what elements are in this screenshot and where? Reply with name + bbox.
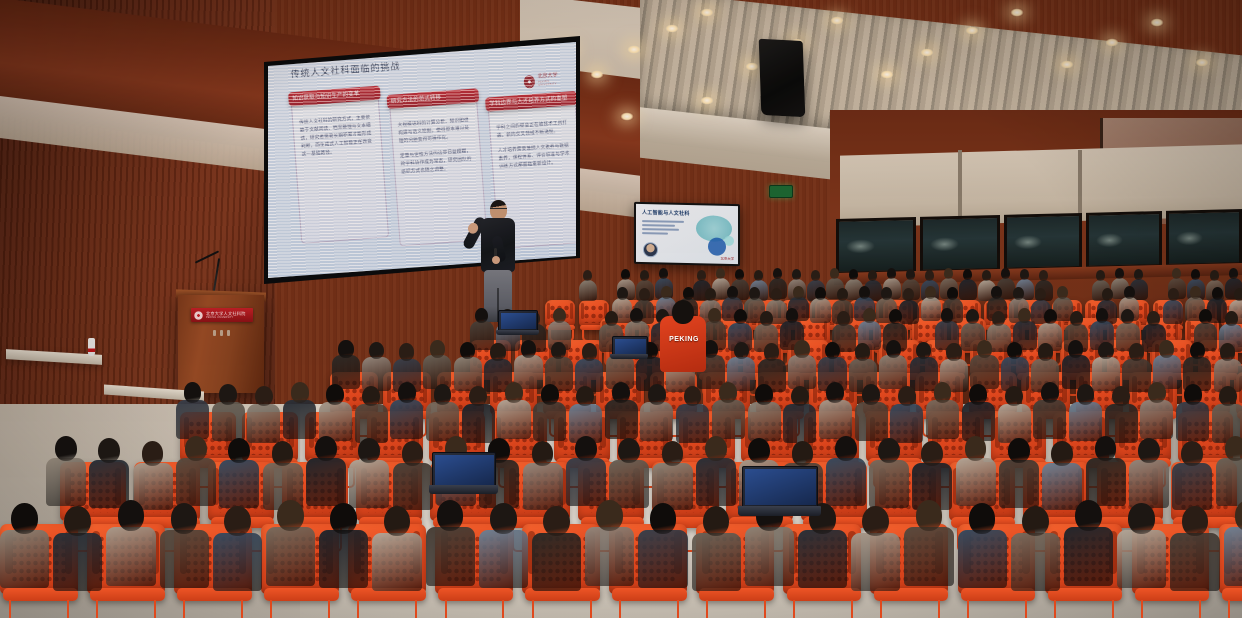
audience-head — [1121, 309, 1134, 324]
audience-head — [1190, 286, 1201, 299]
audience-torso — [426, 527, 475, 586]
slide-column-body: 大规模语料的计算分析、知识图谱构建与语义挖掘，使得原本难以处理的问题变得可操作化… — [390, 99, 482, 189]
audience-head — [362, 386, 380, 407]
audience-torso — [692, 533, 741, 592]
audience-torso — [869, 460, 909, 508]
audience-torso — [638, 530, 687, 589]
audience-head — [1005, 386, 1023, 407]
audience-member — [106, 500, 157, 592]
downlight — [1150, 18, 1164, 27]
audience-torso — [160, 530, 209, 589]
audience-head — [889, 309, 902, 324]
audience-head — [1095, 436, 1117, 461]
audience-head — [291, 382, 309, 403]
audience-head — [941, 308, 954, 323]
audience-member — [213, 506, 264, 598]
audience-member — [426, 500, 477, 592]
downlight — [965, 26, 979, 35]
audience-torso — [904, 527, 953, 586]
laptop-screen — [432, 452, 496, 487]
audience-torso — [1176, 402, 1209, 441]
audience-head — [811, 270, 821, 281]
audience-head — [1124, 286, 1135, 299]
audience-head — [358, 438, 380, 463]
audience-head — [716, 268, 726, 279]
audience-member — [533, 384, 567, 446]
audience-member — [283, 382, 317, 444]
audience-torso — [826, 458, 866, 506]
audience-head — [1199, 309, 1212, 324]
audience-head — [469, 386, 487, 407]
audience-head — [764, 343, 779, 361]
audience-head — [934, 382, 952, 403]
audience-torso — [810, 298, 830, 322]
audience-torso — [1086, 458, 1126, 506]
audience-head — [437, 500, 464, 531]
audience-head — [830, 268, 840, 279]
audience-head — [1041, 382, 1059, 403]
audience-member — [390, 382, 424, 444]
audience-member — [219, 438, 260, 513]
audience-torso — [585, 527, 634, 586]
audience-head — [1210, 270, 1220, 281]
audience-head — [650, 503, 677, 534]
downlight — [700, 96, 714, 105]
audience-head — [1102, 288, 1113, 301]
water-bottle — [88, 338, 95, 356]
peking-jacket-attendee: PEKING — [660, 300, 706, 372]
audience-torso — [1033, 400, 1066, 439]
audience-head — [792, 441, 814, 466]
audience-member — [1064, 500, 1115, 592]
audience-head — [1168, 288, 1179, 301]
audience-head — [1057, 286, 1068, 299]
audience-head — [969, 503, 996, 534]
audience-head — [532, 441, 554, 466]
audience-head — [1096, 270, 1106, 281]
university-seal-icon — [194, 311, 203, 320]
audience-head — [825, 342, 840, 360]
audience-head — [944, 268, 954, 279]
audience-head — [402, 441, 424, 466]
audience-torso — [640, 402, 673, 441]
audience-head — [735, 269, 745, 280]
audience-torso — [1011, 533, 1060, 592]
audience-member — [497, 382, 531, 444]
audience-head — [906, 269, 916, 280]
audience-head — [719, 382, 737, 403]
audience-head — [786, 308, 799, 323]
audience-head — [1184, 384, 1202, 405]
downlight — [665, 24, 679, 33]
peking-varsity-jacket — [660, 316, 706, 372]
audience-head — [1212, 287, 1223, 300]
audience-head — [630, 308, 643, 323]
audience-head — [1070, 311, 1083, 326]
audience-torso — [532, 533, 581, 592]
audience-torso — [479, 530, 528, 589]
downlight — [1010, 8, 1024, 17]
audience-head — [315, 436, 337, 461]
audience-torso — [283, 400, 316, 439]
audience-head — [224, 506, 251, 537]
main-projection-screen: 传统人文社科面临的挑战 北京大学 PEKING UNIVERSITY 知识获取与… — [266, 40, 578, 280]
audience-torso — [745, 527, 794, 586]
laptop-screen — [612, 336, 648, 356]
audience-member — [266, 500, 317, 592]
downlight — [1060, 60, 1074, 69]
audience-torso — [390, 400, 423, 439]
audience-head — [793, 286, 804, 299]
audience-head — [966, 309, 979, 324]
audience-member — [53, 506, 104, 598]
audience-head — [734, 309, 747, 324]
audience-head — [543, 506, 570, 537]
audience-head — [1182, 506, 1209, 537]
audience-head — [1138, 438, 1160, 463]
audience-head — [1112, 386, 1130, 407]
audience-member — [46, 436, 87, 511]
audience-torso — [1129, 460, 1169, 508]
audience-head — [791, 386, 809, 407]
audience-head — [862, 384, 880, 405]
audience-torso — [497, 400, 530, 439]
audience-head — [916, 342, 931, 360]
window — [920, 215, 1000, 273]
audience-head — [1096, 308, 1109, 323]
audience-head — [697, 270, 707, 281]
presenter-hand — [492, 256, 500, 264]
audience-member — [958, 503, 1009, 595]
audience-head — [553, 308, 566, 323]
monitor-graphic — [692, 213, 734, 258]
audience-head — [1098, 342, 1113, 360]
audience-head — [837, 288, 848, 301]
audience-member — [1224, 500, 1242, 592]
audience-member — [1011, 506, 1062, 598]
audience-member — [926, 382, 960, 444]
laptop-icon[interactable] — [742, 466, 816, 518]
audience-head — [992, 311, 1005, 326]
downlight — [880, 70, 894, 79]
audience-member — [1033, 382, 1067, 444]
audience-head — [683, 287, 694, 300]
audience-member — [956, 436, 997, 511]
audience-torso — [926, 400, 959, 439]
audience-head — [1051, 441, 1073, 466]
audience-member — [810, 287, 831, 325]
audience-head — [863, 308, 876, 323]
audience-head — [925, 286, 936, 299]
audience-head — [460, 342, 475, 360]
audience-torso — [1224, 527, 1242, 586]
lecture-hall-photo: 传统人文社科面临的挑战 北京大学 PEKING UNIVERSITY 知识获取与… — [0, 0, 1242, 618]
audience-head — [921, 441, 943, 466]
audience-member — [712, 382, 746, 444]
audience-head — [855, 343, 870, 361]
audience-member — [1176, 384, 1210, 446]
monitor-text-lines — [642, 220, 684, 237]
audience-member — [532, 506, 583, 598]
audience-head — [55, 436, 77, 461]
slide-column-body: 学科之间的壁垒正在被技术工具打通，新的交叉领域不断涌现。 人才培养需要兼顾人文素… — [489, 102, 578, 184]
audience-head — [521, 340, 536, 358]
audience-head — [228, 438, 250, 463]
audience-torso — [1117, 530, 1166, 589]
audience-head — [219, 384, 237, 405]
audience-torso — [53, 533, 102, 592]
audience-head — [965, 436, 987, 461]
audience-head — [434, 384, 452, 405]
audience-head — [11, 503, 38, 534]
audience-head — [582, 343, 597, 361]
audience-head — [1075, 500, 1102, 531]
audience-head — [792, 269, 802, 280]
audience-head — [618, 438, 640, 463]
laptop-keyboard[interactable] — [610, 354, 648, 359]
audience-head — [384, 506, 411, 537]
audience-head — [947, 287, 958, 300]
audience-head — [886, 340, 901, 358]
laptop-keyboard[interactable] — [496, 330, 539, 335]
audience-torso — [319, 530, 368, 589]
audience-torso — [213, 533, 262, 592]
audience-head — [430, 340, 445, 358]
audience-head — [171, 503, 198, 534]
audience-head — [1147, 311, 1160, 326]
audience-head — [1038, 343, 1053, 361]
audience-head — [1134, 269, 1144, 280]
audience-head — [1220, 343, 1235, 361]
audience-head — [369, 342, 384, 360]
audience-head — [640, 270, 650, 281]
window — [1086, 211, 1162, 269]
downlight — [920, 48, 934, 57]
downlight — [830, 16, 844, 25]
audience-head — [575, 436, 597, 461]
audience-head — [621, 269, 631, 280]
audience-head — [1128, 503, 1155, 534]
audience-member — [1172, 441, 1213, 516]
audience-head — [755, 384, 773, 405]
audience-head — [773, 268, 783, 279]
audience-torso — [566, 458, 606, 506]
audience-head — [903, 288, 914, 301]
audience-head — [662, 441, 684, 466]
downlight — [627, 45, 641, 54]
audience-torso — [0, 530, 49, 589]
glasses-icon — [490, 208, 507, 212]
audience-head — [1115, 268, 1125, 279]
audience-head — [1022, 506, 1049, 537]
audience-member — [640, 384, 674, 446]
audience-head — [862, 506, 889, 537]
laptop-icon[interactable] — [498, 310, 536, 336]
audience-head — [1191, 269, 1201, 280]
audience-head — [1018, 308, 1031, 323]
audience-member — [748, 384, 782, 446]
audience-member — [1140, 382, 1174, 444]
window — [1004, 213, 1082, 271]
audience-head — [1001, 268, 1011, 279]
audience-head — [1225, 436, 1242, 461]
audience-head — [925, 270, 935, 281]
university-seal-icon — [523, 74, 535, 88]
audience-torso — [372, 533, 421, 592]
audience-member — [605, 382, 639, 444]
audience-head — [898, 386, 916, 407]
audience-head — [868, 270, 878, 281]
audience-torso — [696, 458, 736, 506]
audience-member — [176, 436, 217, 511]
audience-torso — [1064, 527, 1113, 586]
audience-head — [1020, 269, 1030, 280]
audience-head — [1229, 268, 1239, 279]
audience-member — [696, 436, 737, 511]
audience-head — [708, 308, 721, 323]
lectern-controls[interactable] — [206, 330, 236, 336]
monitor-slide-title: 人工智能与人文社科 — [642, 209, 690, 217]
audience-member — [851, 506, 902, 598]
audience-head — [505, 382, 523, 403]
laptop-keyboard[interactable] — [429, 485, 498, 494]
audience-torso — [798, 530, 847, 589]
audience-head — [815, 287, 826, 300]
audience-head — [672, 300, 694, 324]
audience-torso — [1170, 533, 1219, 592]
audience-head — [142, 441, 164, 466]
audience-head — [734, 342, 749, 360]
lectern-nameplate: 北京大学人文社科院 PEKING UNIVERSITY — [191, 308, 253, 322]
audience-member — [904, 500, 955, 592]
laptop-screen — [742, 466, 818, 508]
audience-head — [703, 506, 730, 537]
audience-member — [160, 503, 211, 595]
audience-head — [881, 287, 892, 300]
slide-column: 知识获取与知识生产的变革 传统人文社科的研究方式，主要依赖于文献阅读、档案整理与… — [291, 96, 389, 244]
audience-head — [661, 286, 672, 299]
audience-head — [1181, 441, 1203, 466]
monitor-brand: 北京大学 — [720, 256, 734, 261]
audience-member — [479, 503, 530, 595]
laptop-keyboard[interactable] — [738, 506, 821, 516]
audience-head — [835, 436, 857, 461]
audience-torso — [266, 527, 315, 586]
audience-head — [399, 343, 414, 361]
audience-head — [991, 286, 1002, 299]
audience-torso — [176, 400, 209, 439]
audience-head — [1234, 288, 1242, 301]
audience-member — [319, 503, 370, 595]
audience-head — [184, 382, 202, 403]
audience-head — [760, 311, 773, 326]
audience-member — [0, 503, 51, 595]
downlight — [745, 62, 759, 71]
audience-head — [583, 270, 593, 281]
audience-head — [977, 340, 992, 358]
audience-torso — [533, 402, 566, 441]
audience-member — [692, 506, 743, 598]
audience-head — [1190, 342, 1205, 360]
audience-head — [541, 384, 559, 405]
audience-head — [705, 436, 727, 461]
audience-head — [826, 382, 844, 403]
audience-head — [1172, 268, 1182, 279]
audience-torso — [579, 280, 597, 301]
audience-head — [946, 343, 961, 361]
downlight — [700, 8, 714, 17]
audience-torso — [788, 355, 816, 388]
audience-member — [819, 382, 853, 444]
lectern-romanization: PEKING UNIVERSITY — [206, 316, 246, 319]
window — [836, 217, 916, 275]
audience-head — [1225, 311, 1238, 326]
audience-head — [64, 506, 91, 537]
audience-head — [963, 269, 973, 280]
audience-torso — [1140, 400, 1173, 439]
audience-head — [794, 340, 809, 358]
audience-head — [1035, 288, 1046, 301]
slide-brand-logo: 北京大学 PEKING UNIVERSITY — [523, 70, 564, 91]
audience-torso — [748, 402, 781, 441]
audience-torso — [605, 400, 638, 439]
audience-head — [659, 268, 669, 279]
audience-head — [490, 343, 505, 361]
audience-head — [837, 311, 850, 326]
audience-torso — [176, 458, 216, 506]
side-confidence-monitor: 人工智能与人文社科 北京大学 — [634, 202, 740, 266]
audience-head — [612, 382, 630, 403]
audience-torso — [958, 530, 1007, 589]
peking-jacket-text: PEKING — [664, 336, 704, 343]
audience-torso — [1172, 463, 1212, 511]
audience-head — [748, 438, 770, 463]
audience-member — [638, 503, 689, 595]
audience-torso — [956, 458, 996, 506]
audience-torso — [46, 458, 86, 506]
audience-head — [648, 384, 666, 405]
audience-torso — [851, 533, 900, 592]
lectern-organization: 北京大学人文社科院 — [206, 311, 246, 316]
laptop-icon[interactable] — [432, 452, 494, 496]
audience-member — [372, 506, 423, 598]
laptop-icon[interactable] — [612, 336, 646, 360]
audience-head — [277, 500, 304, 531]
audience-head — [326, 384, 344, 405]
audience-head — [1159, 340, 1174, 358]
audience-head — [849, 269, 859, 280]
audience-head — [1068, 340, 1083, 358]
downlight — [1105, 38, 1119, 47]
exit-sign-icon — [769, 185, 793, 198]
monitor-speaker-portrait — [643, 242, 658, 257]
audience-head — [1148, 382, 1166, 403]
audience-torso — [712, 400, 745, 439]
audience-head — [98, 438, 120, 463]
audience-head — [1129, 343, 1144, 361]
slide-column-body: 传统人文社科的研究方式，主要依赖于文献阅读、档案整理与文本细读，研究者需要长期积… — [292, 97, 383, 172]
audience-head — [639, 288, 650, 301]
audience-head — [118, 500, 145, 531]
audience-head — [605, 311, 618, 326]
audience-torso — [219, 460, 259, 508]
audience-head — [338, 340, 353, 358]
audience-head — [969, 384, 987, 405]
audience-torso — [349, 460, 389, 508]
audience-head — [754, 270, 764, 281]
audience-member — [1117, 503, 1168, 595]
audience-head — [1077, 384, 1095, 405]
